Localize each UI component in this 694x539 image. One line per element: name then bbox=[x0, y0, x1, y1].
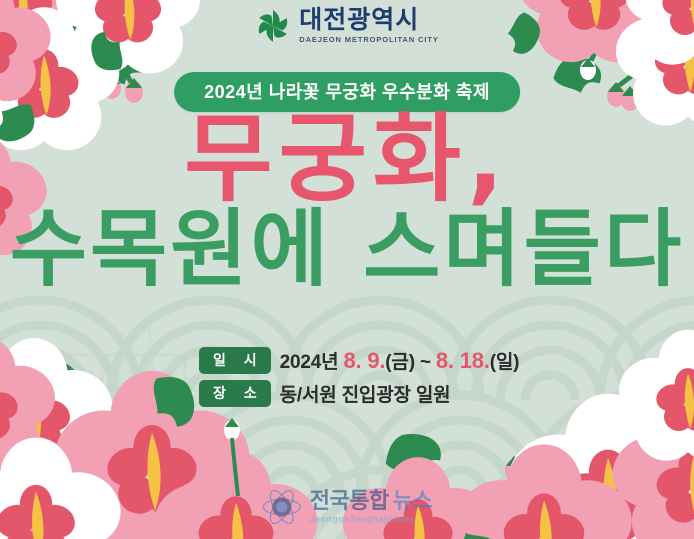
watermark-name-accent: 뉴스 bbox=[393, 490, 432, 512]
date-start: 8. 9. bbox=[343, 348, 385, 373]
poster-headline: 무궁화, 수목원에 스며들다 bbox=[0, 112, 694, 290]
news-watermark: 전국통합 뉴스 JeongukTonghapNews bbox=[262, 487, 432, 527]
watermark-name-main: 전국통합 bbox=[310, 490, 389, 512]
date-start-day: (금) ~ bbox=[385, 352, 436, 373]
date-year-prefix: 2024년 bbox=[280, 352, 344, 373]
headline-line-1: 무궁화, bbox=[0, 112, 694, 206]
daejeon-city-logo: 대전광역시 DAEJEON METROPOLITAN CITY bbox=[0, 8, 694, 44]
atom-news-logo-icon bbox=[262, 487, 302, 527]
headline-line-2: 수목원에 스며들다 bbox=[0, 208, 694, 290]
daejeon-pinwheel-logo-icon bbox=[255, 8, 291, 44]
location-badge-label: 장 소 bbox=[199, 380, 271, 407]
festival-poster: 대전광역시 DAEJEON METROPOLITAN CITY 2024년 나라… bbox=[0, 0, 694, 539]
date-end: 8. 18. bbox=[436, 348, 490, 373]
info-row-location: 장 소 동/서원 진입광장 일원 bbox=[199, 380, 519, 407]
festival-info-block: 일 시 2024년 8. 9.(금) ~ 8. 18.(일) 장 소 동/서원 … bbox=[199, 347, 519, 407]
info-row-date: 일 시 2024년 8. 9.(금) ~ 8. 18.(일) bbox=[199, 347, 519, 374]
location-value: 동/서원 진입광장 일원 bbox=[280, 380, 451, 407]
date-end-day: (일) bbox=[490, 352, 520, 373]
date-badge-label: 일 시 bbox=[199, 347, 271, 374]
watermark-name-english: JeongukTonghapNews bbox=[310, 515, 415, 524]
city-name-english: DAEJEON METROPOLITAN CITY bbox=[299, 36, 438, 44]
date-value: 2024년 8. 9.(금) ~ 8. 18.(일) bbox=[280, 347, 520, 374]
city-name-korean: 대전광역시 bbox=[299, 8, 419, 33]
